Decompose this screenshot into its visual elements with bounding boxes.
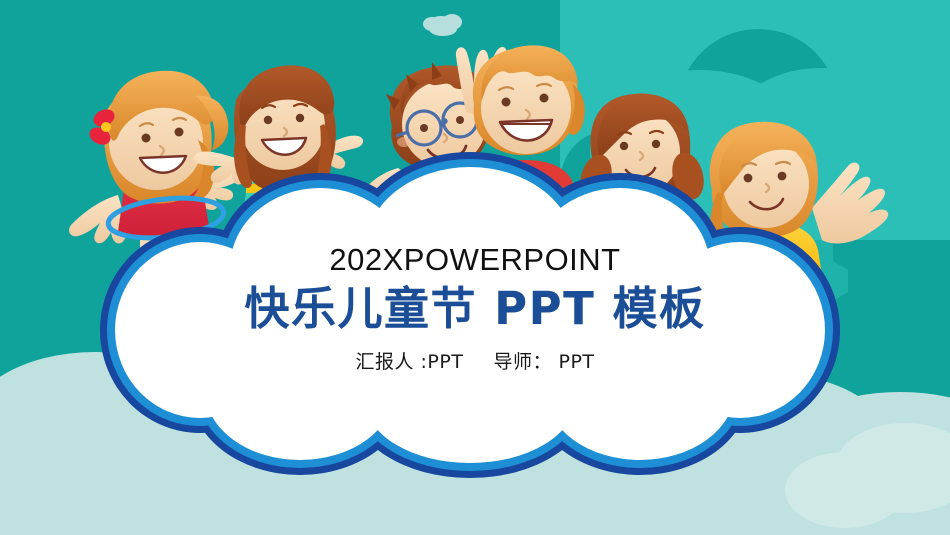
kicker-text: 202XPOWERPOINT [0,243,950,277]
presenter-label: 汇报人 :PPT [355,351,463,373]
presentation-slide: 202XPOWERPOINT 快乐儿童节 PPT 模板 汇报人 :PPT导师： … [0,0,950,535]
page-title: 快乐儿童节 PPT 模板 [0,281,950,337]
byline: 汇报人 :PPT导师： PPT [0,347,950,374]
advisor-label: 导师： PPT [493,351,594,373]
title-text-block: 202XPOWERPOINT 快乐儿童节 PPT 模板 汇报人 :PPT导师： … [0,243,950,374]
